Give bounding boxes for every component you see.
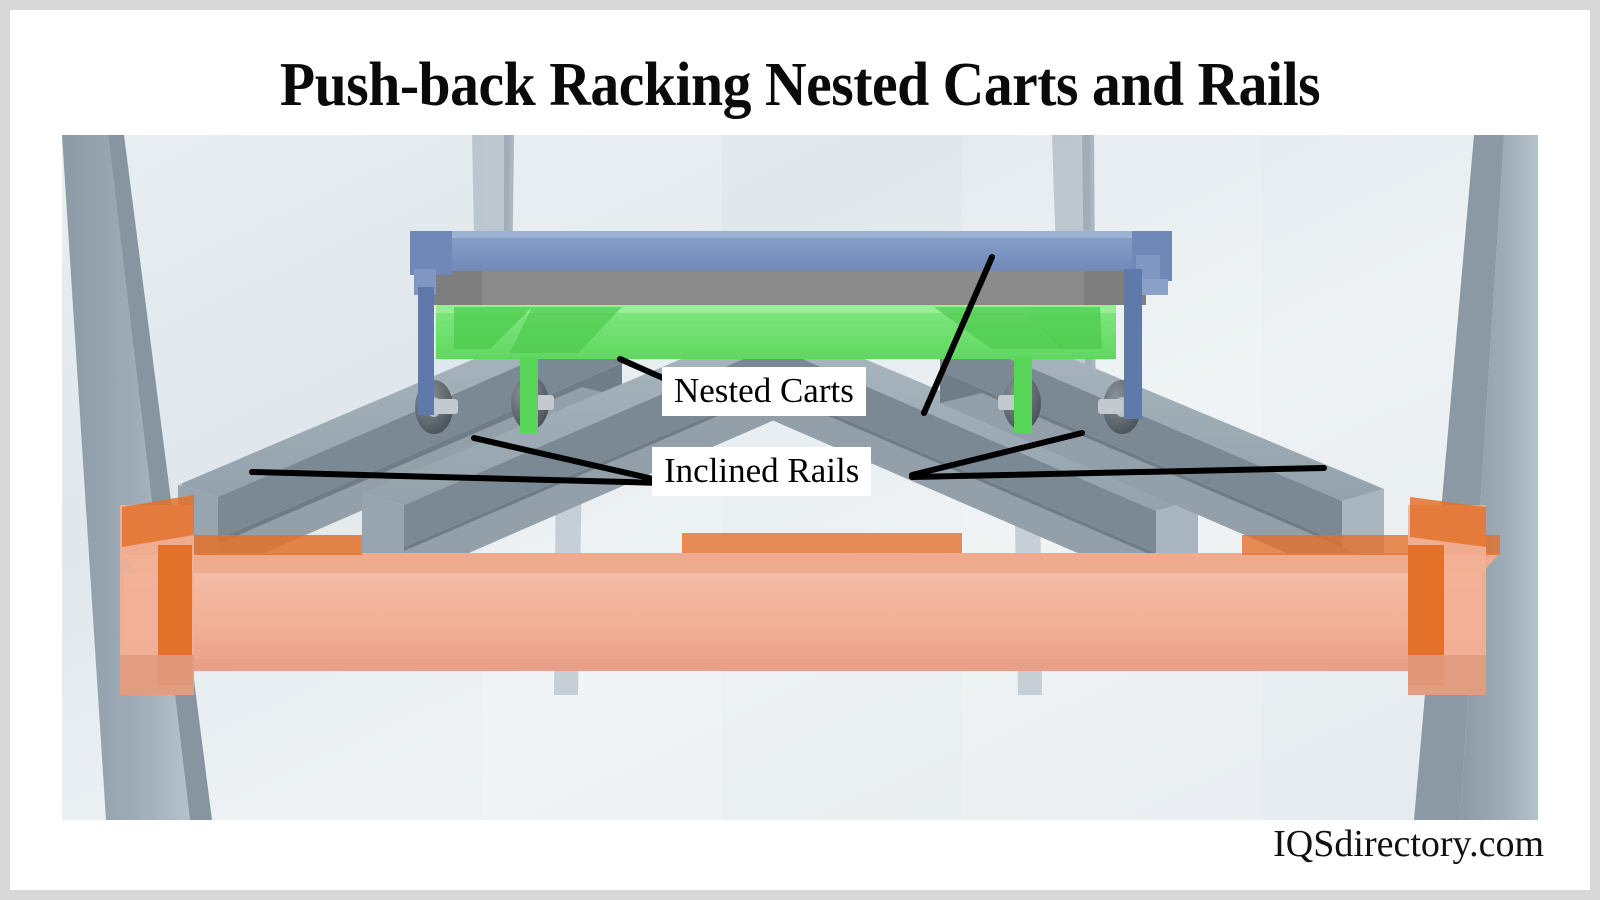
beam-connector-right [1408, 497, 1486, 695]
load-beam [120, 533, 1500, 671]
callout-inclined-rails: Inclined Rails [652, 447, 871, 496]
page-title: Push-back Racking Nested Carts and Rails [65, 54, 1534, 116]
site-watermark: IQSdirectory.com [1273, 822, 1544, 866]
page-card: Push-back Racking Nested Carts and Rails [10, 10, 1590, 890]
beam-connector-left [120, 495, 194, 695]
illustration-canvas: Nested Carts Inclined Rails [62, 135, 1538, 820]
callout-nested-carts: Nested Carts [662, 367, 866, 416]
